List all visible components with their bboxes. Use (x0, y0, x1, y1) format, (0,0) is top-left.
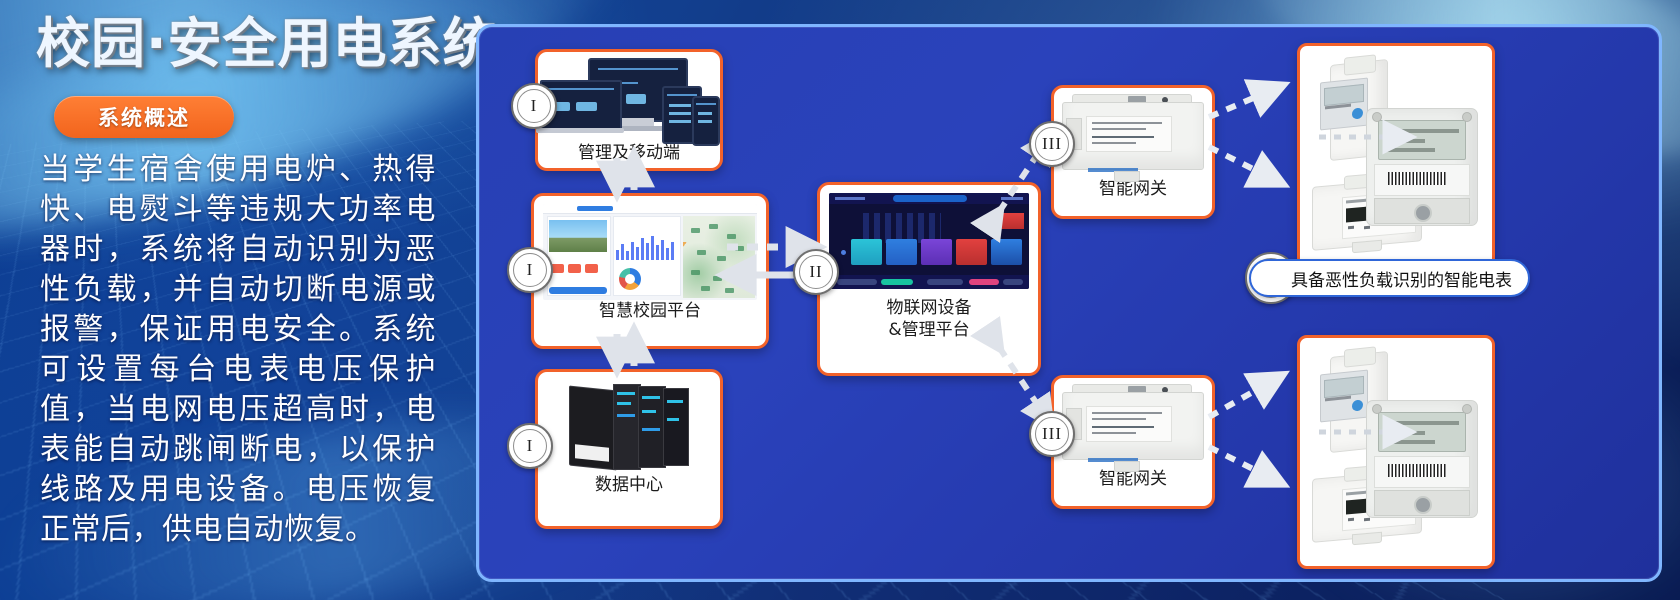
management-devices-illustration (540, 58, 718, 142)
badge-roman-i-campus: I (507, 247, 553, 293)
meter-group-bottom[interactable] (1297, 335, 1495, 569)
node-management[interactable]: 管理及移动端 (535, 49, 723, 171)
node-campus-platform[interactable]: 智慧校园平台 (531, 193, 769, 349)
badge-roman-iii-gateway-top: III (1029, 121, 1075, 167)
node-data-center-label: 数据中心 (595, 474, 663, 496)
badge-roman-i-datacenter: I (507, 423, 553, 469)
node-iot-platform[interactable]: 物联网设备 &管理平台 (817, 182, 1041, 376)
diagram-panel: 管理及移动端 I (476, 24, 1662, 582)
badge-roman-iii-gateway-bottom: III (1029, 411, 1075, 457)
iot-dashboard-screenshot (829, 193, 1029, 289)
node-gateway-bottom[interactable]: 智能网关 (1051, 375, 1215, 509)
node-iot-platform-label: 物联网设备 &管理平台 (887, 297, 972, 341)
meter-panel-large (1362, 102, 1480, 230)
left-copy-panel: 校园·安全用电系统 系统概述 当学生宿舍使用电炉、热得快、电熨斗等违规大功率电器… (0, 0, 476, 600)
section-pill-label: 系统概述 (98, 102, 190, 132)
smart-gateway-illustration (1058, 94, 1208, 178)
page-title: 校园·安全用电系统 (36, 16, 498, 73)
node-management-label: 管理及移动端 (578, 142, 680, 164)
poster-root: 校园·安全用电系统 系统概述 当学生宿舍使用电炉、热得快、电熨斗等违规大功率电器… (0, 0, 1680, 600)
meter-group-callout[interactable]: 具备恶性负载识别的智能电表 (1249, 259, 1530, 297)
badge-roman-i-management: I (511, 83, 557, 129)
node-campus-platform-label: 智慧校园平台 (599, 300, 701, 322)
smart-gateway-illustration (1058, 384, 1208, 468)
meter-panel-large (1362, 394, 1480, 522)
meter-group-top[interactable] (1297, 43, 1495, 277)
server-rack-illustration (569, 384, 689, 468)
badge-roman-ii-iot: II (793, 249, 839, 295)
overview-paragraph: 当学生宿舍使用电炉、热得快、电熨斗等违规大功率电器时，系统将自动识别为恶性负载，… (40, 150, 436, 550)
node-gateway-top[interactable]: 智能网关 (1051, 85, 1215, 219)
node-data-center[interactable]: 数据中心 (535, 369, 723, 529)
campus-platform-screenshot (543, 204, 757, 300)
section-pill: 系统概述 (54, 96, 234, 138)
meter-group-callout-label: 具备恶性负载识别的智能电表 (1291, 266, 1512, 291)
